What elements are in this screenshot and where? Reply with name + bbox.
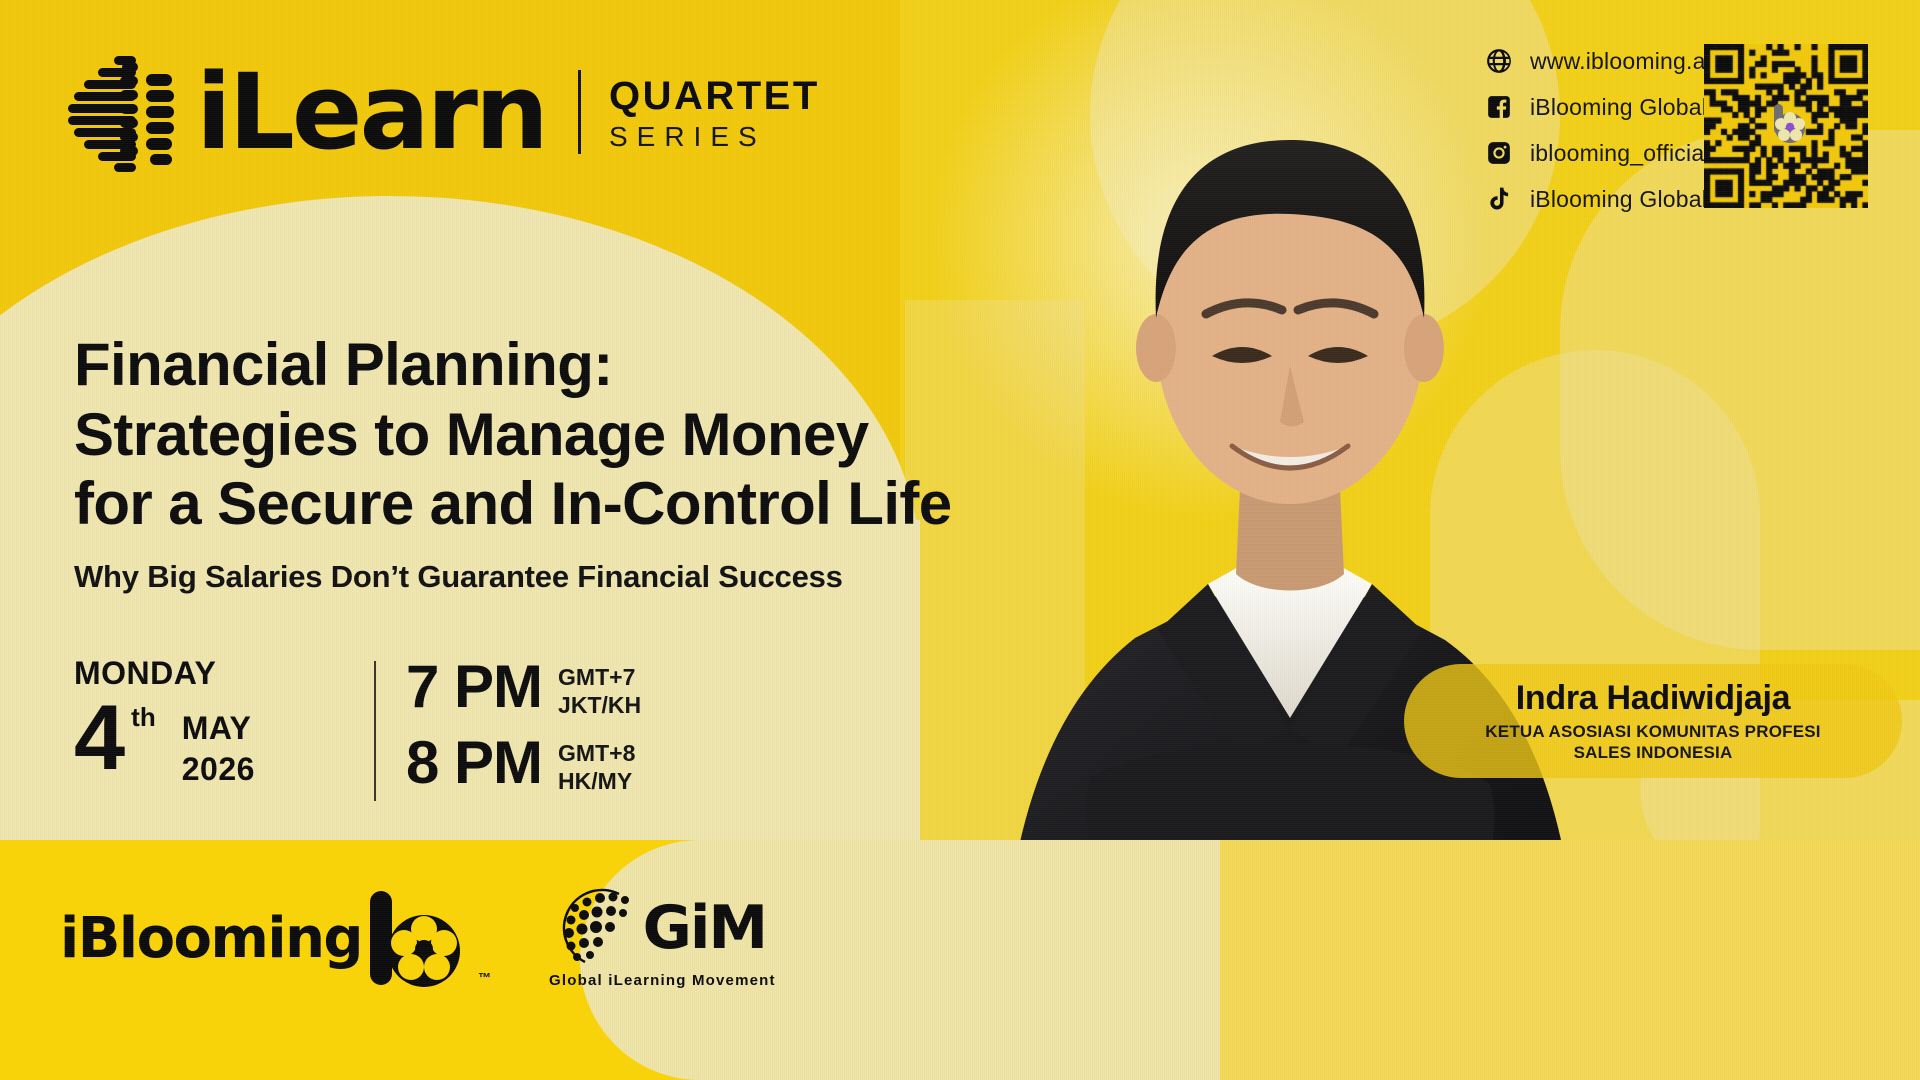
event-date: MONDAY 4 th MAY 2026 bbox=[74, 655, 374, 788]
series-primary-label: QUARTET bbox=[609, 75, 820, 117]
header-logo-lockup: iLearn QUARTET SERIES bbox=[62, 52, 820, 172]
event-day-number: 4 bbox=[74, 696, 125, 781]
speaker-role: KETUA ASOSIASI KOMUNITAS PROFESI SALES I… bbox=[1485, 721, 1820, 764]
footer-decor-right bbox=[1160, 840, 1920, 1080]
datetime-divider bbox=[374, 661, 376, 801]
contact-row-facebook[interactable]: iBlooming Global bbox=[1486, 88, 1711, 126]
globe-icon bbox=[1486, 48, 1512, 74]
event-time-row-1: 7 PM GMT+7 JKT/KH bbox=[406, 657, 641, 719]
contact-label-tiktok: iBlooming Global bbox=[1530, 186, 1707, 213]
speaker-name: Indra Hadiwidjaja bbox=[1516, 679, 1791, 718]
contact-row-website[interactable]: www.iblooming.ai bbox=[1486, 42, 1711, 80]
gim-logo: GiM Global iLearning Movement bbox=[549, 886, 776, 989]
gim-sphere-icon bbox=[559, 886, 643, 970]
iblooming-flower-icon bbox=[1760, 100, 1812, 152]
event-time-row-2: 8 PM GMT+8 HK/MY bbox=[406, 733, 641, 795]
title-subtitle: Why Big Salaries Don’t Guarantee Financi… bbox=[74, 559, 904, 595]
iblooming-b-flower-icon bbox=[362, 889, 474, 989]
event-datetime-block: MONDAY 4 th MAY 2026 7 PM GMT+7 JKT/KH 8… bbox=[74, 655, 641, 809]
contact-list: www.iblooming.ai iBlooming Global ibloom… bbox=[1486, 42, 1711, 226]
series-secondary-label: SERIES bbox=[609, 121, 820, 153]
speaker-badge: Indra Hadiwidjaja KETUA ASOSIASI KOMUNIT… bbox=[1404, 664, 1902, 778]
gim-tagline: Global iLearning Movement bbox=[549, 972, 776, 989]
poster-canvas: iLearn QUARTET SERIES www.iblooming.ai i… bbox=[0, 0, 1920, 1080]
contact-label-website: www.iblooming.ai bbox=[1530, 48, 1711, 75]
title-line-3: for a Secure and In-Control Life bbox=[74, 469, 904, 539]
contact-row-instagram[interactable]: iblooming_official bbox=[1486, 134, 1711, 172]
title-line-2: Strategies to Manage Money bbox=[74, 400, 904, 470]
event-day-ordinal: th bbox=[131, 702, 156, 733]
header-divider bbox=[578, 70, 581, 154]
speaker-role-line-1: KETUA ASOSIASI KOMUNITAS PROFESI bbox=[1485, 722, 1820, 741]
instagram-icon bbox=[1486, 140, 1512, 166]
ilearn-wordmark: iLearn bbox=[196, 60, 546, 164]
event-gmt-1: GMT+7 bbox=[558, 663, 641, 691]
iblooming-tm: ™ bbox=[478, 970, 491, 985]
title-block: Financial Planning: Strategies to Manage… bbox=[74, 330, 904, 595]
contact-label-facebook: iBlooming Global bbox=[1530, 94, 1707, 121]
event-gmt-2: GMT+8 bbox=[558, 739, 635, 767]
title-line-1: Financial Planning: bbox=[74, 330, 904, 400]
iblooming-logo: iBlooming ™ bbox=[60, 889, 491, 989]
event-region-2: HK/MY bbox=[558, 767, 635, 795]
event-year: 2026 bbox=[182, 751, 255, 788]
tiktok-icon bbox=[1486, 186, 1512, 212]
gim-wordmark: GiM bbox=[643, 898, 767, 958]
contact-row-tiktok[interactable]: iBlooming Global bbox=[1486, 180, 1711, 218]
footer-logos: iBlooming ™ bbox=[60, 886, 776, 989]
event-time-1: 7 PM bbox=[406, 657, 542, 717]
speaker-role-line-2: SALES INDONESIA bbox=[1574, 743, 1733, 762]
contact-label-instagram: iblooming_official bbox=[1530, 140, 1710, 167]
facebook-icon bbox=[1486, 94, 1512, 120]
ilearn-bars-icon bbox=[62, 52, 174, 172]
event-month: MAY bbox=[182, 710, 255, 747]
iblooming-wordmark: iBlooming bbox=[60, 911, 362, 967]
event-times: 7 PM GMT+7 JKT/KH 8 PM GMT+8 HK/MY bbox=[406, 655, 641, 809]
event-region-1: JKT/KH bbox=[558, 691, 641, 719]
event-time-2: 8 PM bbox=[406, 733, 542, 793]
qr-code[interactable] bbox=[1704, 44, 1868, 208]
